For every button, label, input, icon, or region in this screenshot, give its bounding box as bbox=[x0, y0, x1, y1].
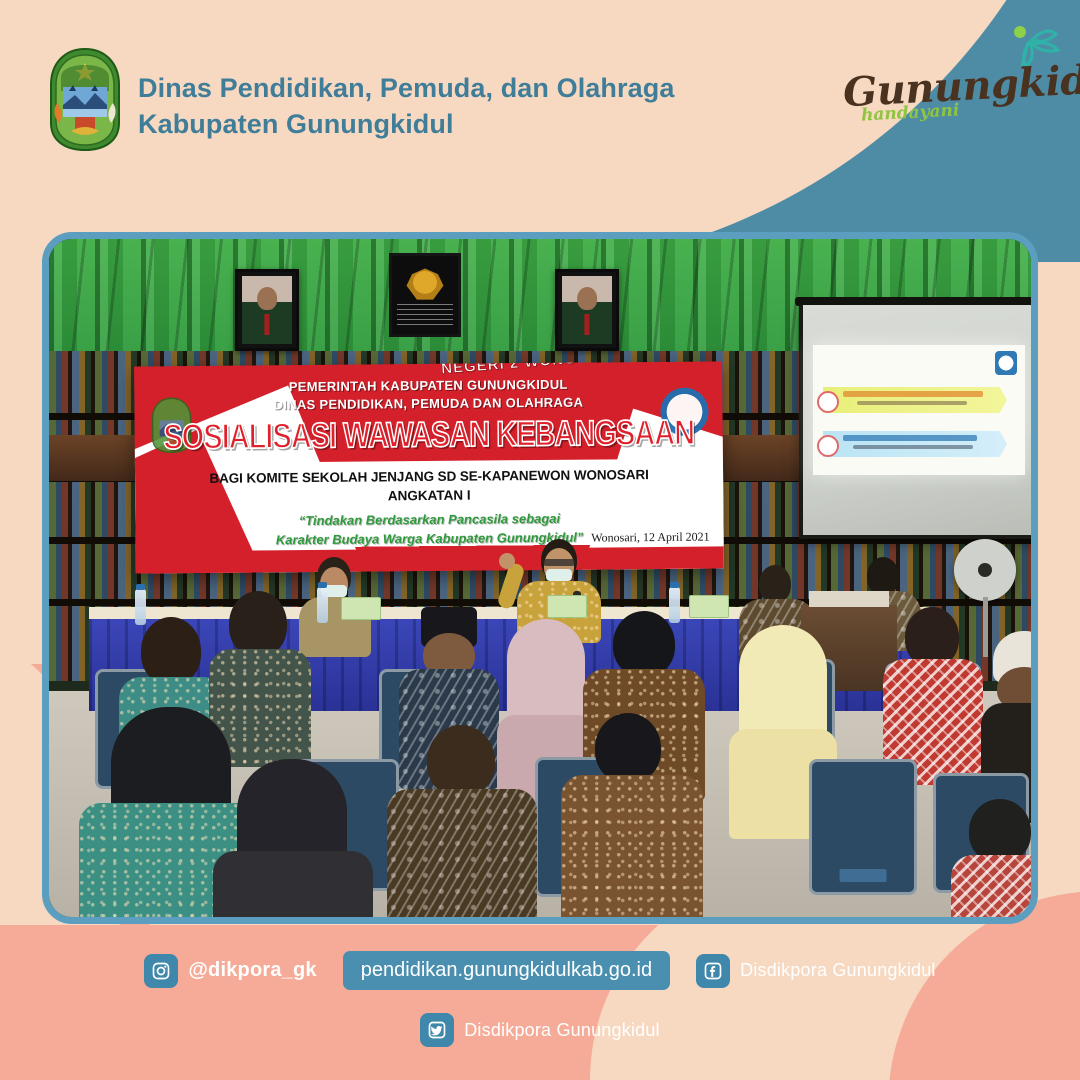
water-bottle bbox=[669, 587, 680, 623]
twitter-handle[interactable]: Disdikpora Gunungkidul bbox=[420, 1013, 660, 1047]
presentation-slide bbox=[813, 345, 1025, 475]
fan-pole bbox=[983, 597, 988, 657]
projector-screen bbox=[799, 305, 1038, 539]
gunungkidul-regency-crest bbox=[45, 47, 125, 152]
water-bottle bbox=[317, 587, 328, 623]
website-link[interactable]: pendidikan.gunungkidulkab.go.id bbox=[343, 951, 670, 990]
facebook-label: Disdikpora Gunungkidul bbox=[740, 960, 936, 981]
standing-fan bbox=[954, 539, 1016, 601]
snack-box bbox=[689, 595, 729, 618]
gunungkidul-brand-logo: Gunungkidul handayani bbox=[843, 40, 1058, 130]
cabinet-top-item bbox=[809, 591, 889, 607]
snack-box bbox=[547, 595, 587, 618]
water-bottle bbox=[135, 589, 146, 625]
footer-primary-row: @dikpora_gk pendidikan.gunungkidulkab.go… bbox=[0, 951, 1080, 990]
banner-date: Wonosari, 12 April 2021 bbox=[591, 530, 709, 546]
garuda-pancasila-emblem bbox=[389, 253, 461, 337]
banner-arc-label: NEGERI 2 WONO bbox=[441, 361, 577, 377]
slide-bullet-1 bbox=[817, 391, 839, 413]
raised-fist bbox=[499, 553, 515, 569]
vice-president-portrait bbox=[555, 269, 619, 351]
brand-tagline: handayani bbox=[861, 100, 960, 125]
banner-main-title: SOSIALISASI WAWASAN KEBANGSAAN bbox=[135, 413, 723, 458]
page-title-line2: Kabupaten Gunungkidul bbox=[138, 106, 674, 142]
event-banner: NEGERI 2 WONO PEMERINTAH KABUPATEN GUNUN… bbox=[134, 361, 724, 573]
face-mask bbox=[546, 569, 572, 581]
slide-logo-icon bbox=[995, 351, 1017, 375]
facebook-icon[interactable] bbox=[696, 954, 730, 988]
facebook-handle[interactable]: Disdikpora Gunungkidul bbox=[696, 954, 936, 988]
poster-footer: @dikpora_gk pendidikan.gunungkidulkab.go… bbox=[0, 925, 1080, 1080]
header-title-block: Dinas Pendidikan, Pemuda, dan Olahraga K… bbox=[138, 70, 674, 142]
poster-canvas: Dinas Pendidikan, Pemuda, dan Olahraga K… bbox=[0, 0, 1080, 1080]
instagram-icon[interactable] bbox=[144, 954, 178, 988]
twitter-icon[interactable] bbox=[420, 1013, 454, 1047]
event-photograph: NEGERI 2 WONO PEMERINTAH KABUPATEN GUNUN… bbox=[42, 232, 1038, 924]
slide-bullet-2 bbox=[817, 435, 839, 457]
twitter-label: Disdikpora Gunungkidul bbox=[464, 1020, 660, 1041]
chair bbox=[809, 759, 917, 895]
footer-secondary-row: Disdikpora Gunungkidul bbox=[0, 1013, 1080, 1047]
page-title-line1: Dinas Pendidikan, Pemuda, dan Olahraga bbox=[138, 70, 674, 106]
president-portrait bbox=[235, 269, 299, 351]
instagram-handle[interactable]: @dikpora_gk bbox=[144, 954, 316, 988]
eyeglasses-icon bbox=[543, 559, 575, 566]
poster-header: Dinas Pendidikan, Pemuda, dan Olahraga K… bbox=[0, 0, 1080, 200]
snack-box bbox=[341, 597, 381, 620]
instagram-label: @dikpora_gk bbox=[188, 959, 316, 982]
